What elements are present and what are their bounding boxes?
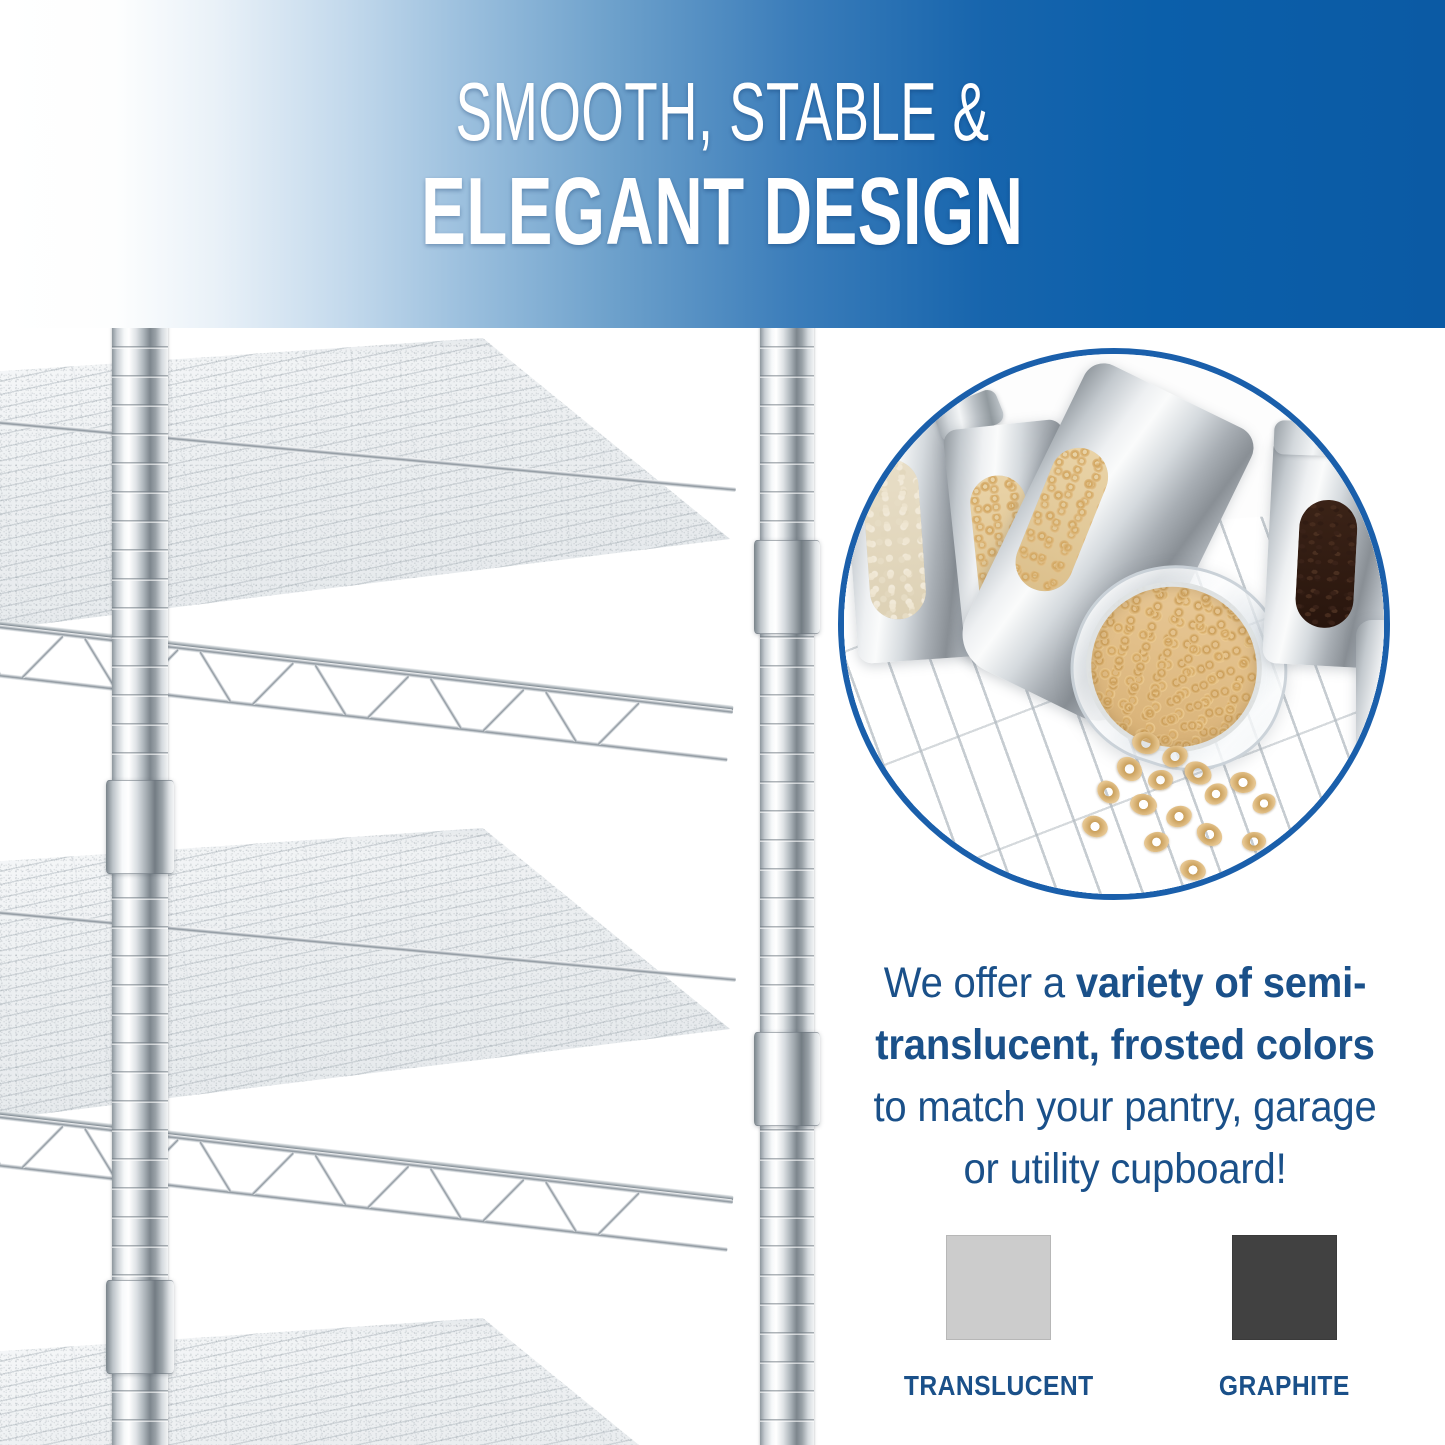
shelf-liner-top [0, 338, 730, 638]
swatch-chip-graphite[interactable] [1232, 1235, 1337, 1340]
shelf-post-collar-right-top [754, 540, 820, 634]
headline-group: SMOOTH, STABLE & ELEGANT DESIGN [0, 0, 1445, 328]
pantry-canisters-inset-photo [838, 348, 1390, 900]
shelf-post-collar-left-bottom [106, 1280, 174, 1374]
shelf-truss-top [0, 590, 733, 779]
copy-part-2: to match your pantry, garage or utility … [873, 1083, 1376, 1193]
color-swatch-row: TRANSLUCENT GRAPHITE [845, 1235, 1405, 1425]
shelving-product-photo [0, 328, 830, 1445]
canister-lid-coffee [1273, 420, 1384, 458]
canister-window-oats [861, 458, 928, 622]
shelf-post-right [760, 328, 814, 1445]
swatch-chip-translucent[interactable] [946, 1235, 1051, 1340]
inset-scene [844, 354, 1384, 894]
shelf-post-collar-right-middle [754, 1032, 820, 1126]
swatch-label-graphite: GRAPHITE [1219, 1370, 1350, 1402]
shelf-truss-middle [0, 1080, 733, 1269]
canister-window-coffee [1294, 499, 1359, 630]
shelf-post-left [112, 328, 168, 1445]
headline-line-2: ELEGANT DESIGN [421, 162, 1023, 262]
swatch-graphite[interactable]: GRAPHITE [1210, 1235, 1359, 1402]
copy-part-1: We offer a [884, 959, 1076, 1007]
swatch-translucent[interactable]: TRANSLUCENT [891, 1235, 1107, 1402]
canister-partial-right [1356, 620, 1384, 760]
shelf-post-collar-left-middle [106, 780, 174, 874]
product-feature-image: SMOOTH, STABLE & ELEGANT DESIGN [0, 0, 1445, 1445]
marketing-copy: We offer a variety of semi-translucent, … [845, 952, 1405, 1200]
header-banner: SMOOTH, STABLE & ELEGANT DESIGN [0, 0, 1445, 328]
wire-shelving-unit [0, 328, 830, 1445]
swatch-label-translucent: TRANSLUCENT [904, 1370, 1094, 1402]
headline-line-1: SMOOTH, STABLE & [456, 66, 990, 158]
